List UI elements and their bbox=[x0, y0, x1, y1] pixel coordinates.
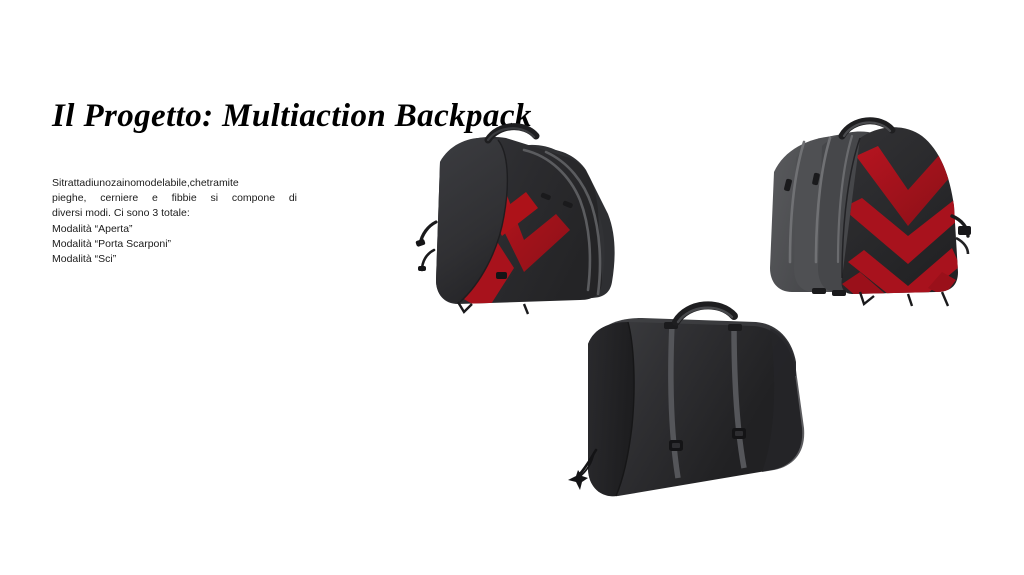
slide-canvas: Il Progetto: Multiaction Backpack Sitrat… bbox=[0, 0, 1024, 575]
mode-item-aperta: Modalità “Aperta” bbox=[52, 222, 297, 237]
mode-item-sci: Modalità “Sci” bbox=[52, 252, 297, 267]
slide-footer: isia ROMADESIGN Design del Prodotto 2 _ … bbox=[0, 527, 1024, 575]
product-render-boot-carrier-mode bbox=[756, 112, 994, 322]
description-line-1: Sitrattadiunozainomodelabile,chetramite bbox=[52, 176, 297, 191]
product-render-open-mode bbox=[374, 122, 636, 322]
description-line-3: diversi modi. Ci sono 3 totale: bbox=[52, 206, 297, 221]
description-line-2: pieghe, cerniere e fibbie si compone di bbox=[52, 191, 297, 206]
product-render-ski-mode bbox=[548, 300, 838, 508]
description-text-block: Sitrattadiunozainomodelabile,chetramite … bbox=[52, 176, 297, 267]
mode-item-porta-scarponi: Modalità “Porta Scarponi” bbox=[52, 237, 297, 252]
